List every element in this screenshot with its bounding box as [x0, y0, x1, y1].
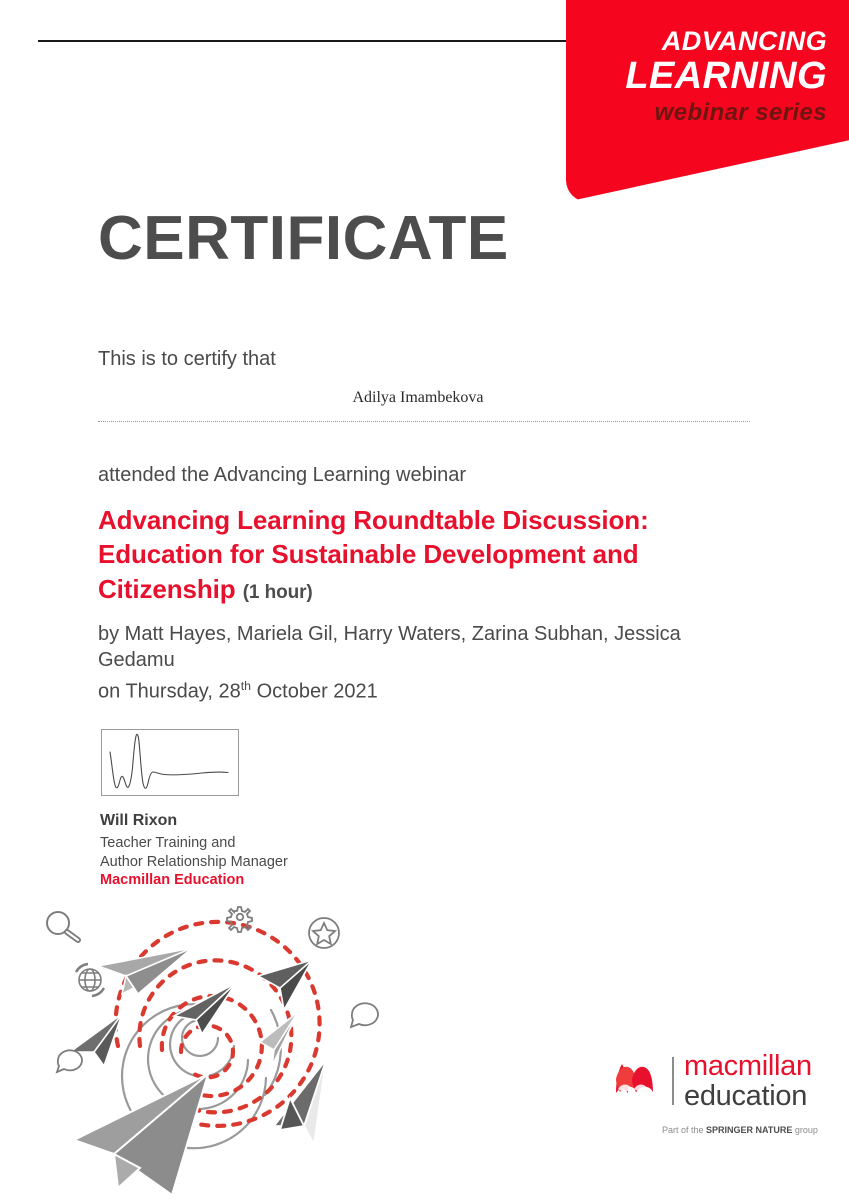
- webinar-title: Advancing Learning Roundtable Discussion…: [98, 503, 738, 606]
- signer-name: Will Rixon: [100, 812, 177, 830]
- logo-word-education: education: [684, 1081, 812, 1111]
- certificate-page: ADVANCING LEARNING webinar series CERTIF…: [0, 0, 849, 1200]
- handwritten-signature-icon: [102, 730, 238, 795]
- paper-plane-upper-right: [258, 960, 312, 1010]
- globe-icon: [76, 964, 104, 996]
- webinar-title-text: Advancing Learning Roundtable Discussion…: [98, 505, 649, 604]
- event-date: on Thursday, 28th October 2021: [98, 679, 378, 704]
- paper-plane-left: [70, 1014, 122, 1066]
- logo-tagline: Part of the SPRINGER NATURE group: [662, 1125, 818, 1135]
- paper-planes-spiral-illustration: [22, 890, 412, 1195]
- signature-box: [101, 729, 239, 796]
- speech-bubble-icon: [57, 1050, 82, 1072]
- logo-wordmark: macmillan education: [684, 1051, 812, 1112]
- event-date-prefix: on Thursday, 28: [98, 681, 241, 703]
- logo-divider: [672, 1057, 674, 1105]
- signer-role-line-2: Author Relationship Manager: [100, 853, 288, 872]
- illustration-svg: [22, 890, 412, 1195]
- star-circle-icon: [309, 918, 339, 948]
- paper-plane-right-mid: [260, 1012, 298, 1066]
- magnifier-icon: [47, 912, 78, 940]
- signer-company: Macmillan Education: [100, 872, 244, 888]
- certify-statement: This is to certify that: [98, 348, 276, 371]
- header-rule: [38, 40, 567, 42]
- logo-tagline-brand: SPRINGER NATURE: [706, 1125, 792, 1135]
- page-title: CERTIFICATE: [98, 208, 509, 270]
- presenter-list: by Matt Hayes, Mariela Gil, Harry Waters…: [98, 622, 698, 673]
- signer-role: Teacher Training and Author Relationship…: [100, 834, 288, 871]
- recipient-name: Adilya Imambekova: [98, 389, 738, 407]
- signer-role-line-1: Teacher Training and: [100, 834, 288, 853]
- advancing-learning-banner: [566, 0, 849, 202]
- macmillan-education-logo: macmillan education Part of the SPRINGER…: [614, 1055, 834, 1150]
- webinar-duration: (1 hour): [243, 582, 313, 603]
- event-date-suffix: October 2021: [251, 681, 378, 703]
- logo-tagline-after: group: [792, 1125, 818, 1135]
- speech-bubble-icon: [351, 1003, 378, 1027]
- attendance-statement: attended the Advancing Learning webinar: [98, 464, 466, 487]
- logo-word-macmillan: macmillan: [684, 1051, 812, 1081]
- paper-plane-center: [174, 983, 236, 1034]
- macmillan-m-mark-icon: [614, 1059, 662, 1099]
- logo-tagline-before: Part of the: [662, 1125, 706, 1135]
- paper-plane-large: [74, 1074, 208, 1195]
- name-dotted-rule: [98, 421, 750, 422]
- event-date-ordinal: th: [241, 679, 251, 693]
